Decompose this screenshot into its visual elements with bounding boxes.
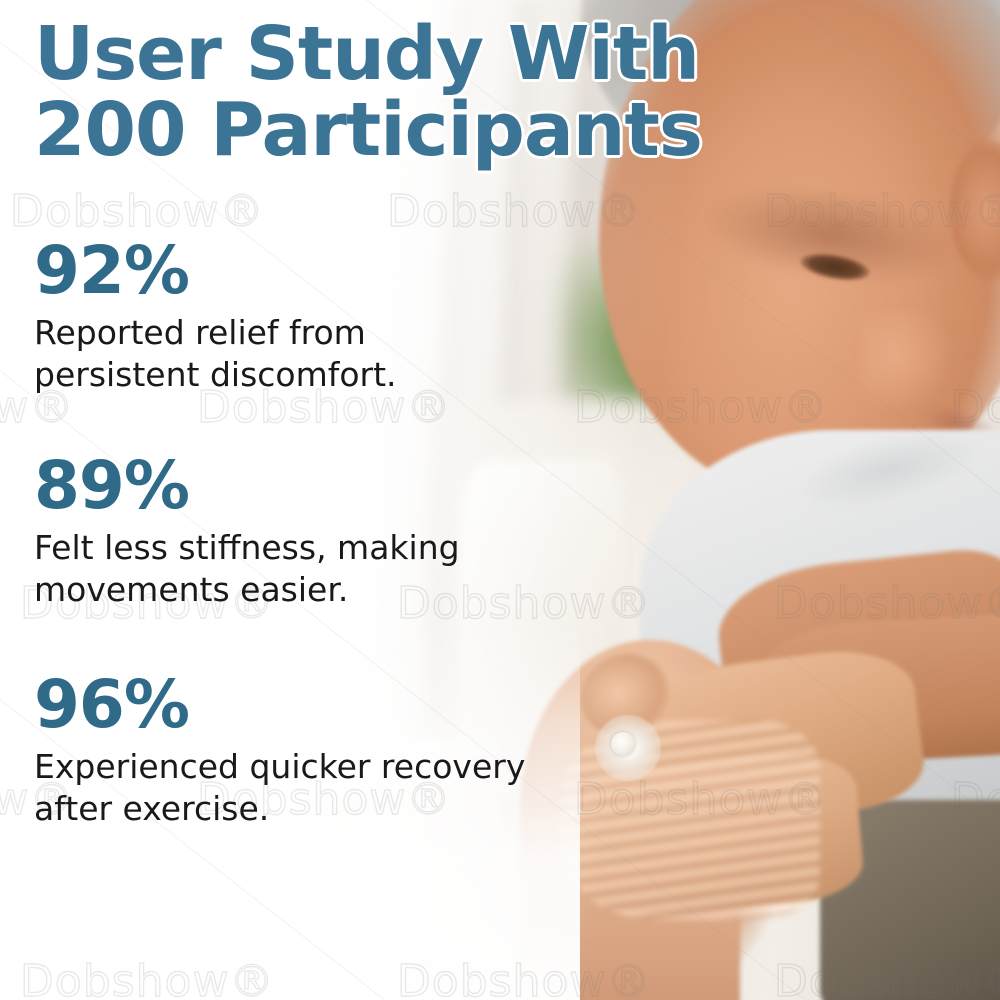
stat-description-line: after exercise. xyxy=(34,788,574,830)
stat-block: 92% Reported relief from persistent disc… xyxy=(34,236,594,395)
stat-description: Felt less stiffness, making movements ea… xyxy=(34,527,574,610)
stat-description-line: persistent discomfort. xyxy=(34,354,574,396)
stat-description-line: Felt less stiffness, making xyxy=(34,527,574,569)
headline-line-2: 200 Participants xyxy=(34,92,794,168)
stat-percentage: 89% xyxy=(34,451,594,521)
stat-block: 89% Felt less stiffness, making movement… xyxy=(34,451,594,610)
content-layer: User Study With 200 Participants 92% Rep… xyxy=(0,0,1000,1000)
stat-description-line: movements easier. xyxy=(34,569,574,611)
stat-percentage: 92% xyxy=(34,236,594,306)
stat-description: Reported relief from persistent discomfo… xyxy=(34,312,574,395)
stat-description-line: Experienced quicker recovery xyxy=(34,746,574,788)
headline-line-1: User Study With xyxy=(34,16,794,92)
stat-description-line: Reported relief from xyxy=(34,312,574,354)
stat-description: Experienced quicker recovery after exerc… xyxy=(34,746,574,829)
infographic-canvas: Dobshow® Dobshow® Dobshow® Dobshow® Dobs… xyxy=(0,0,1000,1000)
stat-percentage: 96% xyxy=(34,670,594,740)
statistics-list: 92% Reported relief from persistent disc… xyxy=(34,236,594,829)
page-title: User Study With 200 Participants xyxy=(34,16,794,168)
stat-block: 96% Experienced quicker recovery after e… xyxy=(34,670,594,829)
